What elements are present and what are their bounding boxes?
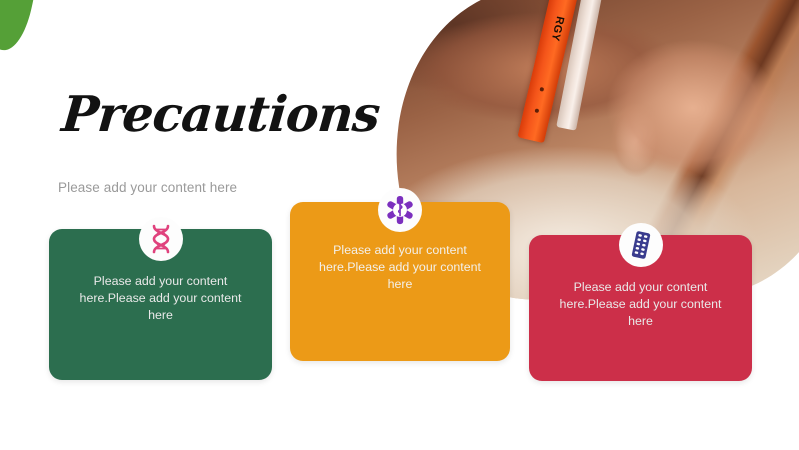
page-subtitle: Please add your content here (58, 180, 237, 195)
star-of-life-icon-badge (378, 188, 422, 232)
pill-blister-pack-icon-badge (619, 223, 663, 267)
precaution-card-3[interactable]: Please add your content here.Please add … (529, 235, 752, 381)
slide-canvas: RGY Precautions Please add your content … (0, 0, 799, 450)
green-blob-icon (0, 0, 196, 70)
pill-blister-pack-icon (627, 230, 655, 260)
dna-helix-icon (148, 224, 174, 254)
star-of-life-icon (385, 195, 415, 225)
precaution-card-1[interactable]: Please add your content here.Please add … (49, 229, 272, 380)
precaution-card-2[interactable]: Please add your content here.Please add … (290, 202, 510, 361)
page-title: Precautions (59, 85, 381, 143)
dna-helix-icon-badge (139, 217, 183, 261)
wristband-label: RGY (547, 6, 568, 51)
card-3-text: Please add your content here.Please add … (547, 279, 735, 330)
card-2-text: Please add your content here.Please add … (306, 242, 494, 293)
card-1-text: Please add your content here.Please add … (67, 273, 255, 324)
